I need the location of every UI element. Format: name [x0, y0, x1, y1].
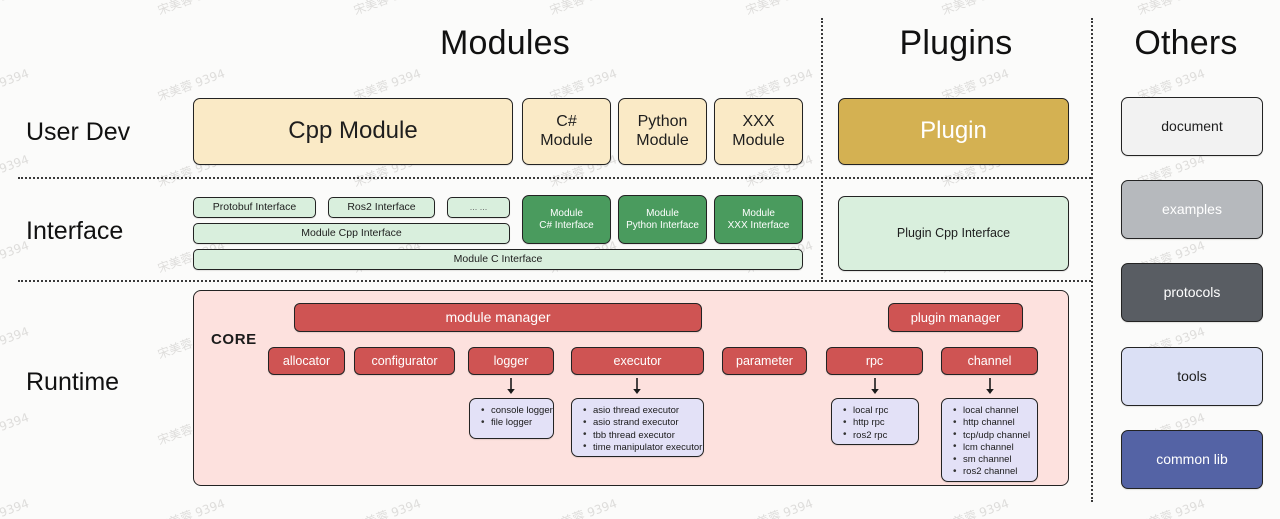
detail-item: asio thread executor: [593, 405, 695, 417]
watermark-text: 宋美蓉 9394: [1135, 494, 1207, 519]
row-label-user-dev: User Dev: [26, 120, 130, 145]
module-xxx-interface-box[interactable]: Module XXX Interface: [714, 195, 803, 244]
module-manager-box[interactable]: module manager: [294, 303, 702, 332]
column-header-modules: Modules: [190, 26, 820, 60]
detail-item: http channel: [963, 417, 1029, 429]
divider-userdev-interface: [18, 177, 1091, 179]
detail-item: console logger: [491, 405, 545, 417]
divider-plugins-others: [1091, 18, 1093, 502]
detail-item: tbb thread executor: [593, 430, 695, 442]
python-module-box[interactable]: Python Module: [618, 98, 707, 165]
detail-item: ros2 channel: [963, 466, 1029, 478]
watermark-text: 宋美蓉 9394: [547, 0, 619, 19]
logger-box[interactable]: logger: [468, 347, 554, 375]
ros2-interface-box[interactable]: Ros2 Interface: [328, 197, 435, 218]
executor-details-card: asio thread executorasio strand executor…: [571, 398, 704, 457]
column-header-others: Others: [1093, 26, 1279, 60]
others-tools-box[interactable]: tools: [1121, 347, 1263, 406]
divider-interface-runtime: [18, 280, 1091, 282]
watermark-text: 宋美蓉 9394: [547, 494, 619, 519]
cpp-module-box[interactable]: Cpp Module: [193, 98, 513, 165]
channel-box[interactable]: channel: [941, 347, 1038, 375]
detail-item: file logger: [491, 417, 545, 429]
watermark-text: 宋美蓉 9394: [0, 150, 31, 190]
csharp-module-box[interactable]: C# Module: [522, 98, 611, 165]
arrow-channel-down: [983, 378, 997, 396]
others-examples-box[interactable]: examples: [1121, 180, 1263, 239]
core-label: CORE: [211, 332, 257, 347]
detail-item: time manipulator executor: [593, 442, 695, 454]
watermark-text: 宋美蓉 9394: [0, 0, 31, 19]
detail-item: local channel: [963, 405, 1029, 417]
architecture-diagram: 宋美蓉 9394宋美蓉 9394宋美蓉 9394宋美蓉 9394宋美蓉 9394…: [0, 0, 1280, 519]
others-protocols-box[interactable]: protocols: [1121, 263, 1263, 322]
detail-item: asio strand executor: [593, 417, 695, 429]
watermark-text: 宋美蓉 9394: [0, 494, 31, 519]
rpc-box[interactable]: rpc: [826, 347, 923, 375]
detail-item: lcm channel: [963, 442, 1029, 454]
parameter-box[interactable]: parameter: [722, 347, 807, 375]
channel-details-list: local channelhttp channeltcp/udp channel…: [950, 405, 1029, 479]
detail-item: local rpc: [853, 405, 910, 417]
channel-details-card: local channelhttp channeltcp/udp channel…: [941, 398, 1038, 482]
watermark-text: 宋美蓉 9394: [351, 0, 423, 19]
watermark-text: 宋美蓉 9394: [939, 0, 1011, 19]
watermark-text: 宋美蓉 9394: [939, 494, 1011, 519]
xxx-module-box[interactable]: XXX Module: [714, 98, 803, 165]
watermark-text: 宋美蓉 9394: [1135, 0, 1207, 19]
arrow-logger-down: [504, 378, 518, 396]
rpc-details-card: local rpchttp rpcros2 rpc: [831, 398, 919, 445]
module-cpp-interface-bar[interactable]: Module Cpp Interface: [193, 223, 510, 244]
row-label-interface: Interface: [26, 219, 123, 244]
logger-details-list: console loggerfile logger: [478, 405, 545, 430]
plugin-manager-box[interactable]: plugin manager: [888, 303, 1023, 332]
column-header-plugins: Plugins: [823, 26, 1089, 60]
watermark-text: 宋美蓉 9394: [0, 322, 31, 362]
detail-item: tcp/udp channel: [963, 430, 1029, 442]
arrow-executor-down: [630, 378, 644, 396]
watermark-text: 宋美蓉 9394: [0, 64, 31, 104]
others-commonlib-box[interactable]: common lib: [1121, 430, 1263, 489]
logger-details-card: console loggerfile logger: [469, 398, 554, 439]
allocator-box[interactable]: allocator: [268, 347, 345, 375]
module-c-interface-bar[interactable]: Module C Interface: [193, 249, 803, 270]
executor-box[interactable]: executor: [571, 347, 704, 375]
arrow-rpc-down: [868, 378, 882, 396]
plugin-cpp-interface-box[interactable]: Plugin Cpp Interface: [838, 196, 1069, 271]
more-interface-box[interactable]: ... ...: [447, 197, 510, 218]
watermark-text: 宋美蓉 9394: [743, 0, 815, 19]
row-label-runtime: Runtime: [26, 370, 119, 395]
detail-item: sm channel: [963, 454, 1029, 466]
executor-details-list: asio thread executorasio strand executor…: [580, 405, 695, 454]
detail-item: http rpc: [853, 417, 910, 429]
watermark-text: 宋美蓉 9394: [155, 494, 227, 519]
module-python-interface-box[interactable]: Module Python Interface: [618, 195, 707, 244]
detail-item: ros2 rpc: [853, 430, 910, 442]
watermark-text: 宋美蓉 9394: [351, 494, 423, 519]
watermark-text: 宋美蓉 9394: [0, 408, 31, 448]
watermark-text: 宋美蓉 9394: [743, 494, 815, 519]
others-document-box[interactable]: document: [1121, 97, 1263, 156]
watermark-text: 宋美蓉 9394: [155, 0, 227, 19]
rpc-details-list: local rpchttp rpcros2 rpc: [840, 405, 910, 442]
configurator-box[interactable]: configurator: [354, 347, 455, 375]
plugin-box[interactable]: Plugin: [838, 98, 1069, 165]
module-csharp-interface-box[interactable]: Module C# Interface: [522, 195, 611, 244]
divider-modules-plugins: [821, 18, 823, 282]
protobuf-interface-box[interactable]: Protobuf Interface: [193, 197, 316, 218]
